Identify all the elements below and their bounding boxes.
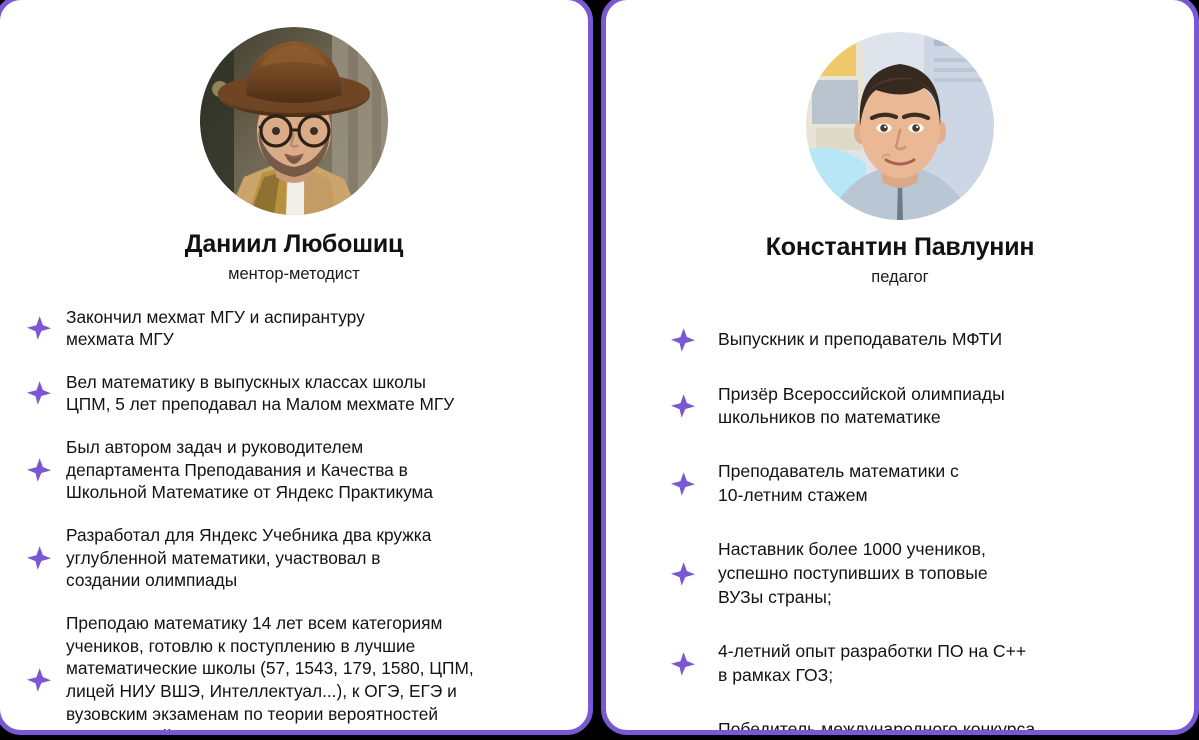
star-icon [26,545,52,571]
star-icon [670,729,696,735]
photo-daniil-lyuboshits-icon [200,27,388,215]
teachers-cards-board: Даниил Любошиц ментор-методист Закончил … [0,0,1199,740]
credentials-list: Выпускник и преподаватель МФТИ Призёр Вс… [606,327,1194,736]
list-item-text: Преподаватель математики с 10-летним ста… [718,460,959,508]
list-item: Вел математику в выпускных классах школы… [26,371,570,416]
list-item: 4-летний опыт разработки ПО на C++ в рам… [670,640,1154,688]
list-item-text: Наставник более 1000 учеников, успешно п… [718,538,988,610]
star-icon [670,651,696,677]
person-name: Константин Павлунин [766,234,1035,262]
list-item: Закончил мехмат МГУ и аспирантуру мехмат… [26,306,570,351]
list-item-text: Победитель международного конкурса научн… [718,718,1035,735]
list-item-text: Призёр Всероссийской олимпиады школьнико… [718,383,1005,431]
list-item-text: Вел математику в выпускных классах школы… [66,371,454,416]
photo-konstantin-pavlunin-icon [806,32,994,220]
star-icon [670,471,696,497]
person-name: Даниил Любошиц [185,231,403,259]
list-item-text: Закончил мехмат МГУ и аспирантуру мехмат… [66,306,365,351]
star-icon [26,315,52,341]
teacher-card-daniil: Даниил Любошиц ментор-методист Закончил … [0,0,593,735]
list-item-text: Был автором задач и руководителем департ… [66,436,433,504]
star-icon [26,380,52,406]
list-item-text: Преподаю математику 14 лет всем категори… [66,612,474,735]
credentials-list: Закончил мехмат МГУ и аспирантуру мехмат… [0,306,588,736]
star-icon [26,457,52,483]
list-item: Победитель международного конкурса научн… [670,718,1154,735]
list-item-text: Выпускник и преподаватель МФТИ [718,328,1002,352]
person-role: педагог [871,268,928,287]
list-item: Призёр Всероссийской олимпиады школьнико… [670,383,1154,431]
list-item: Разработал для Яндекс Учебника два кружк… [26,524,570,592]
person-role: ментор-методист [228,265,360,284]
list-item: Преподаватель математики с 10-летним ста… [670,460,1154,508]
star-icon [26,667,52,693]
list-item: Преподаю математику 14 лет всем категори… [26,612,570,735]
list-item: Выпускник и преподаватель МФТИ [670,327,1154,353]
list-item-text: Разработал для Яндекс Учебника два кружк… [66,524,431,592]
list-item: Был автором задач и руководителем департ… [26,436,570,504]
list-item-text: 4-летний опыт разработки ПО на C++ в рам… [718,640,1026,688]
list-item: Наставник более 1000 учеников, успешно п… [670,538,1154,610]
avatar [200,27,388,215]
star-icon [670,327,696,353]
avatar [806,32,994,220]
star-icon [670,561,696,587]
teacher-card-konstantin: Константин Павлунин педагог Выпускник и … [601,0,1199,735]
star-icon [670,393,696,419]
